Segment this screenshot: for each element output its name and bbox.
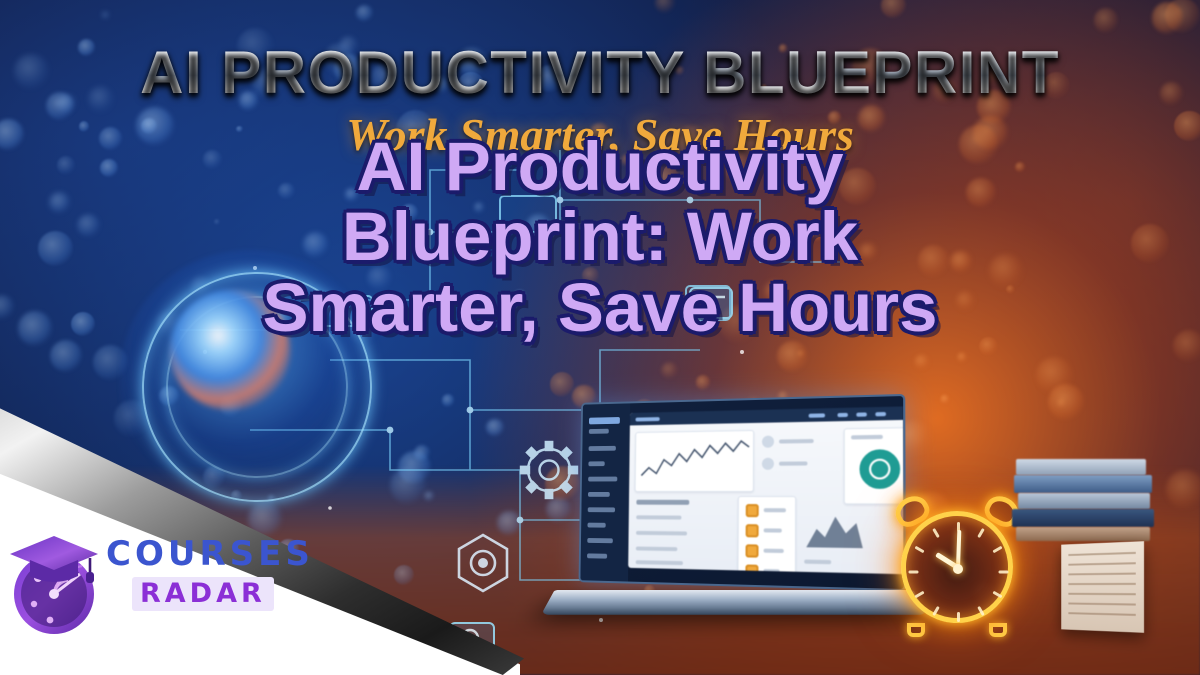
page-title: AI Productivity Blueprint: Work Smarter,… — [120, 132, 1080, 343]
clock-face — [901, 511, 1013, 623]
logo-radar-chip: RADAR — [132, 577, 274, 611]
logo-radar-text: RADAR — [140, 578, 266, 609]
open-book — [1061, 541, 1144, 633]
banner-stage: AI PRODUCTIVITY BLUEPRINT Work Smarter, … — [0, 0, 1200, 675]
dashboard-line-chart — [635, 430, 754, 492]
page-title-line-1: AI Productivity — [120, 132, 1080, 202]
dashboard-screen — [628, 406, 904, 574]
dashboard-metric-list — [634, 498, 734, 572]
laptop-screen-lid — [579, 394, 906, 591]
dashboard-topbar — [630, 406, 903, 425]
neon-alarm-clock — [893, 497, 1021, 637]
logo[interactable]: COURSES RADAR — [10, 528, 272, 646]
background-headline: AI PRODUCTIVITY BLUEPRINT — [0, 38, 1200, 107]
logo-text: COURSES RADAR — [106, 534, 314, 611]
books-stack — [1012, 455, 1200, 675]
hexagon-gear-icon — [459, 535, 507, 591]
graduation-cap-radar-icon — [10, 528, 102, 640]
clock-minute-hand — [956, 530, 961, 568]
page-title-line-3: Smarter, Save Hours — [120, 273, 1080, 343]
dashboard-sidebar — [580, 403, 630, 581]
clock-foot-right — [989, 623, 1007, 637]
page-title-line-2: Blueprint: Work — [120, 202, 1080, 272]
dashboard-donut-chart — [844, 427, 904, 505]
logo-courses-text: COURSES — [106, 534, 314, 574]
laptop — [556, 398, 916, 648]
laptop-keyboard-base — [541, 590, 927, 615]
dashboard-task-card — [737, 496, 796, 574]
dashboard-area-chart — [802, 502, 867, 554]
clock-foot-left — [907, 623, 925, 637]
dashboard-legend — [760, 428, 836, 492]
